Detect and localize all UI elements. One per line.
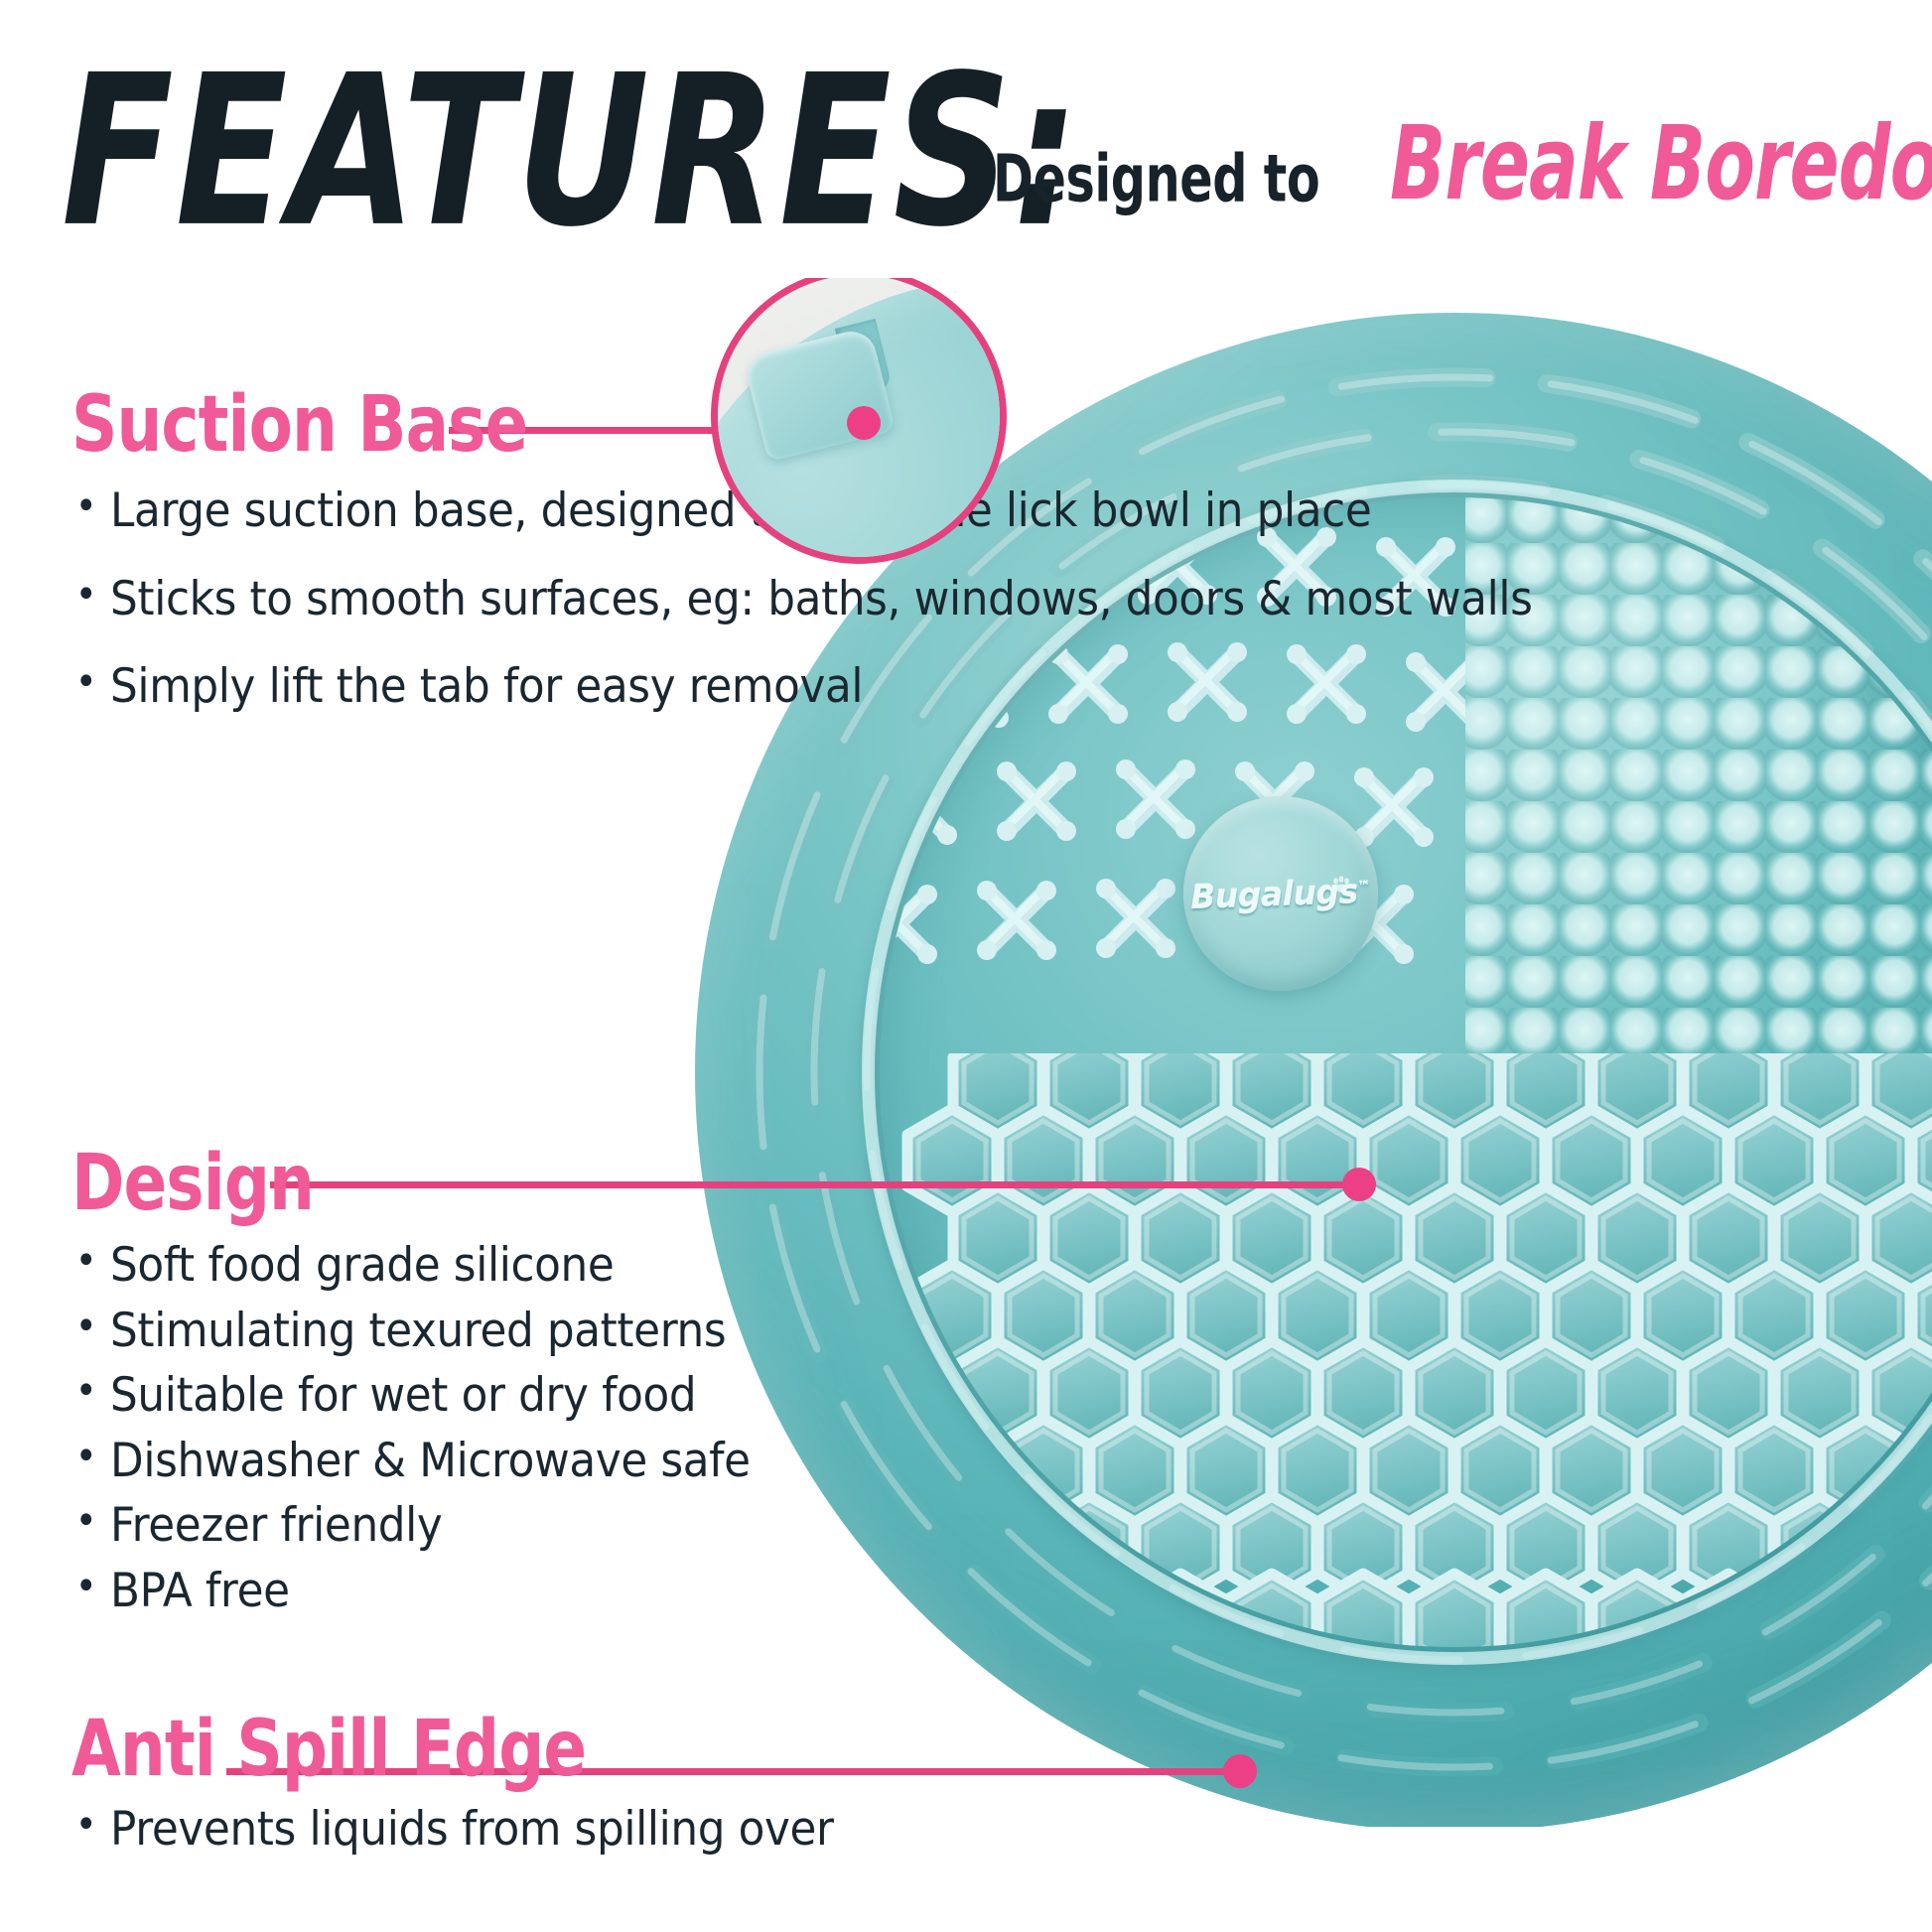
trademark-symbol: ™ — [1358, 879, 1371, 894]
leader-dot-design — [1342, 1168, 1376, 1201]
bullet-list-design: Soft food grade silicone Stimulating tex… — [71, 1239, 801, 1618]
list-item: Prevents liquids from spilling over — [71, 1803, 834, 1858]
suction-tab-callout — [711, 278, 1007, 564]
list-item: Suitable for wet or dry food — [71, 1369, 751, 1424]
list-item: Dishwasher & Microwave safe — [71, 1435, 751, 1489]
section-heading-anti-spill-edge: Anti Spill Edge — [71, 1710, 825, 1787]
list-item: Stimulating texured patterns — [71, 1305, 751, 1359]
tagline: Designed to Break Boredom — [993, 129, 1932, 223]
lower-texture-half — [880, 1053, 1932, 1647]
list-item: BPA free — [71, 1565, 751, 1619]
page-title: FEATURES: — [62, 48, 1080, 256]
section-design: Design Soft food grade silicone Stimulat… — [71, 1144, 801, 1629]
list-item: Freezer friendly — [71, 1499, 751, 1554]
header: FEATURES: Designed to Break Boredom — [0, 0, 1932, 278]
tagline-prefix: Designed to — [993, 141, 1319, 217]
leader-dot-anti-spill-edge — [1223, 1754, 1257, 1788]
list-item: Sticks to smooth surfaces, eg: baths, wi… — [71, 573, 1533, 627]
brand-medallion: Bugalugs™ — [1183, 796, 1378, 991]
list-item: Soft food grade silicone — [71, 1239, 751, 1294]
list-item: Simply lift the tab for easy removal — [71, 660, 1533, 715]
paw-print-icon — [1330, 874, 1352, 896]
section-anti-spill-edge: Anti Spill Edge Prevents liquids from sp… — [71, 1710, 891, 1865]
bullet-list-anti-spill-edge: Prevents liquids from spilling over — [71, 1803, 891, 1858]
honeycomb-pattern — [880, 1053, 1932, 1647]
honeycomb-svg — [880, 1053, 1932, 1647]
infographic-page: FEATURES: Designed to Break Boredom — [0, 0, 1932, 1932]
callout-target-dot — [847, 406, 881, 440]
tagline-accent: Break Boredom — [1390, 105, 1932, 223]
section-heading-design: Design — [71, 1144, 743, 1221]
